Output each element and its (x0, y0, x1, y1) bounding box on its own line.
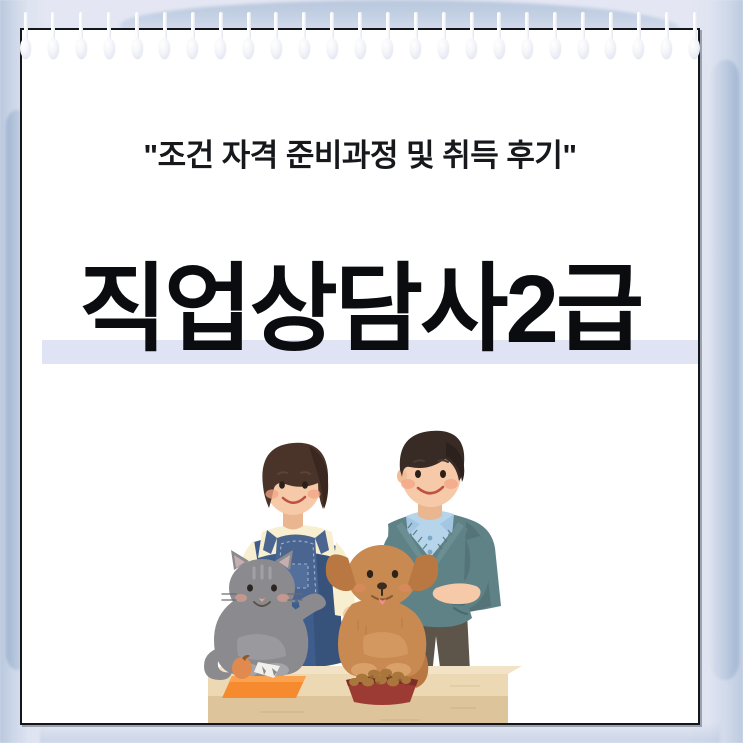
spiral-ring-bead (271, 38, 282, 58)
watercolor-right-stroke (709, 60, 739, 680)
spiral-binding (20, 12, 700, 62)
spiral-ring-bead (20, 38, 31, 58)
spiral-ring-bead (243, 38, 254, 58)
spiral-ring (104, 12, 115, 60)
spiral-ring (633, 12, 644, 60)
spiral-ring-bead (605, 38, 616, 58)
spiral-ring (327, 12, 338, 60)
spiral-ring-bead (327, 38, 338, 58)
spiral-ring (522, 12, 533, 60)
page-title: 직업상담사2급 (22, 262, 698, 358)
spiral-ring-bead (215, 38, 226, 58)
spiral-ring (438, 12, 449, 60)
spiral-ring-bead (76, 38, 87, 58)
spiral-ring-bead (578, 38, 589, 58)
spiral-ring-bead (382, 38, 393, 58)
spiral-ring (159, 12, 170, 60)
spiral-ring (355, 12, 366, 60)
spiral-ring-bead (299, 38, 310, 58)
spiral-ring (20, 12, 31, 60)
couple-with-pets-illustration: DOG (22, 412, 698, 725)
spiral-ring (76, 12, 87, 60)
spiral-ring (550, 12, 561, 60)
spiral-ring-bead (159, 38, 170, 58)
spiral-ring (689, 12, 700, 60)
spiral-ring-bead (438, 38, 449, 58)
spiral-ring (578, 12, 589, 60)
spiral-ring-bead (661, 38, 672, 58)
spiral-ring-bead (355, 38, 366, 58)
spiral-ring-bead (550, 38, 561, 58)
spiral-ring (215, 12, 226, 60)
spiral-ring (466, 12, 477, 60)
spiral-ring-bead (466, 38, 477, 58)
spiral-ring (299, 12, 310, 60)
spiral-ring (132, 12, 143, 60)
spiral-ring (271, 12, 282, 60)
spiral-ring (410, 12, 421, 60)
spiral-ring-bead (522, 38, 533, 58)
spiral-ring (494, 12, 505, 60)
spiral-ring (605, 12, 616, 60)
spiral-ring-bead (104, 38, 115, 58)
poster-canvas: "조건 자격 준비과정 및 취득 후기" 직업상담사2급 (0, 0, 743, 743)
spiral-ring-bead (633, 38, 644, 58)
spiral-ring (661, 12, 672, 60)
spiral-ring-bead (410, 38, 421, 58)
notebook-page: "조건 자격 준비과정 및 취득 후기" 직업상담사2급 (20, 28, 700, 725)
spiral-ring-bead (187, 38, 198, 58)
spiral-ring (382, 12, 393, 60)
page-subtitle: "조건 자격 준비과정 및 취득 후기" (22, 130, 698, 175)
spiral-ring-bead (132, 38, 143, 58)
spiral-ring (48, 12, 59, 60)
spiral-ring-bead (494, 38, 505, 58)
cat-mat (222, 676, 306, 698)
watercolor-bottom-wash (40, 723, 720, 743)
spiral-ring-bead (48, 38, 59, 58)
spiral-ring-bead (689, 38, 700, 58)
spiral-ring (187, 12, 198, 60)
spiral-ring (243, 12, 254, 60)
